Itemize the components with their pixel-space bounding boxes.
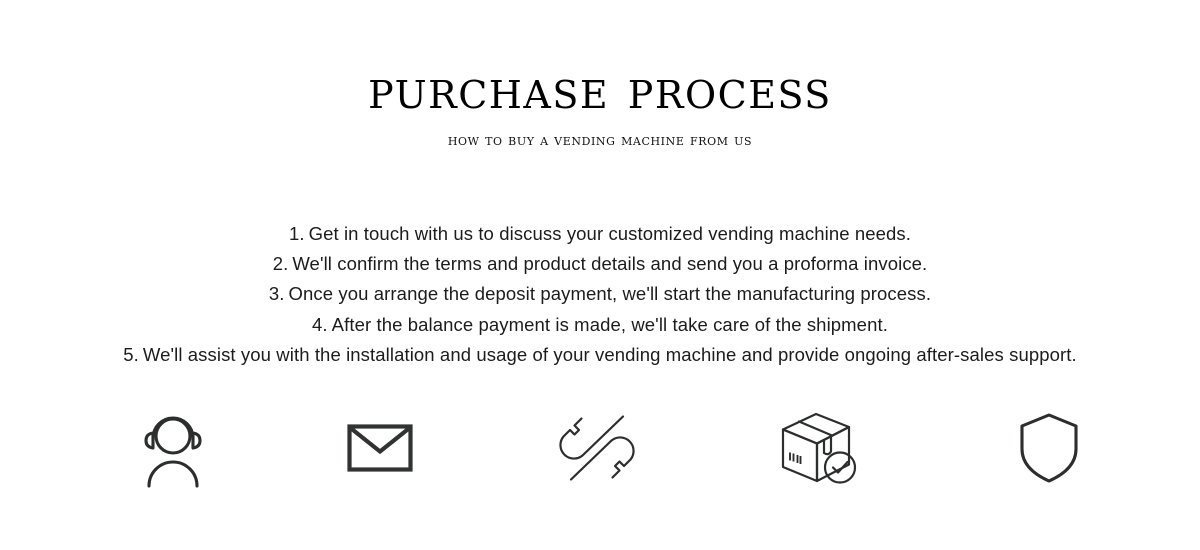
page-title: Purchase Process	[0, 62, 1200, 117]
crossed-wrenches-icon	[561, 412, 633, 484]
step-number: 1.	[289, 223, 305, 244]
icon-cell-shipment	[766, 402, 876, 494]
icon-row	[0, 402, 1200, 497]
step-text: We'll confirm the terms and product deta…	[292, 253, 927, 274]
purchase-process-infographic: Purchase Process How to buy a vending ma…	[0, 0, 1200, 550]
list-item: 4.After the balance payment is made, we'…	[0, 310, 1200, 340]
step-text: Get in touch with us to discuss your cus…	[309, 223, 911, 244]
icon-cell-email	[325, 402, 435, 494]
step-number: 2.	[273, 253, 289, 274]
header: Purchase Process How to buy a vending ma…	[0, 62, 1200, 149]
icon-cell-warranty	[994, 402, 1104, 494]
step-text: We'll assist you with the installation a…	[143, 344, 1077, 365]
headset-support-person-icon	[136, 408, 210, 488]
icon-cell-manufacturing	[542, 402, 652, 494]
page-subtitle: How to buy a vending machine from us	[0, 131, 1200, 149]
list-item: 2.We'll confirm the terms and product de…	[0, 249, 1200, 279]
step-number: 4.	[312, 314, 328, 335]
shield-icon	[1018, 412, 1080, 484]
step-number: 3.	[269, 283, 285, 304]
envelope-icon	[347, 424, 413, 472]
purchase-steps-list: 1.Get in touch with us to discuss your c…	[0, 219, 1200, 370]
package-check-icon	[779, 409, 863, 487]
icon-cell-support	[118, 402, 228, 494]
list-item: 3.Once you arrange the deposit payment, …	[0, 279, 1200, 309]
step-text: Once you arrange the deposit payment, we…	[289, 283, 932, 304]
step-number: 5.	[123, 344, 139, 365]
list-item: 1.Get in touch with us to discuss your c…	[0, 219, 1200, 249]
list-item: 5.We'll assist you with the installation…	[0, 340, 1200, 370]
step-text: After the balance payment is made, we'll…	[332, 314, 888, 335]
